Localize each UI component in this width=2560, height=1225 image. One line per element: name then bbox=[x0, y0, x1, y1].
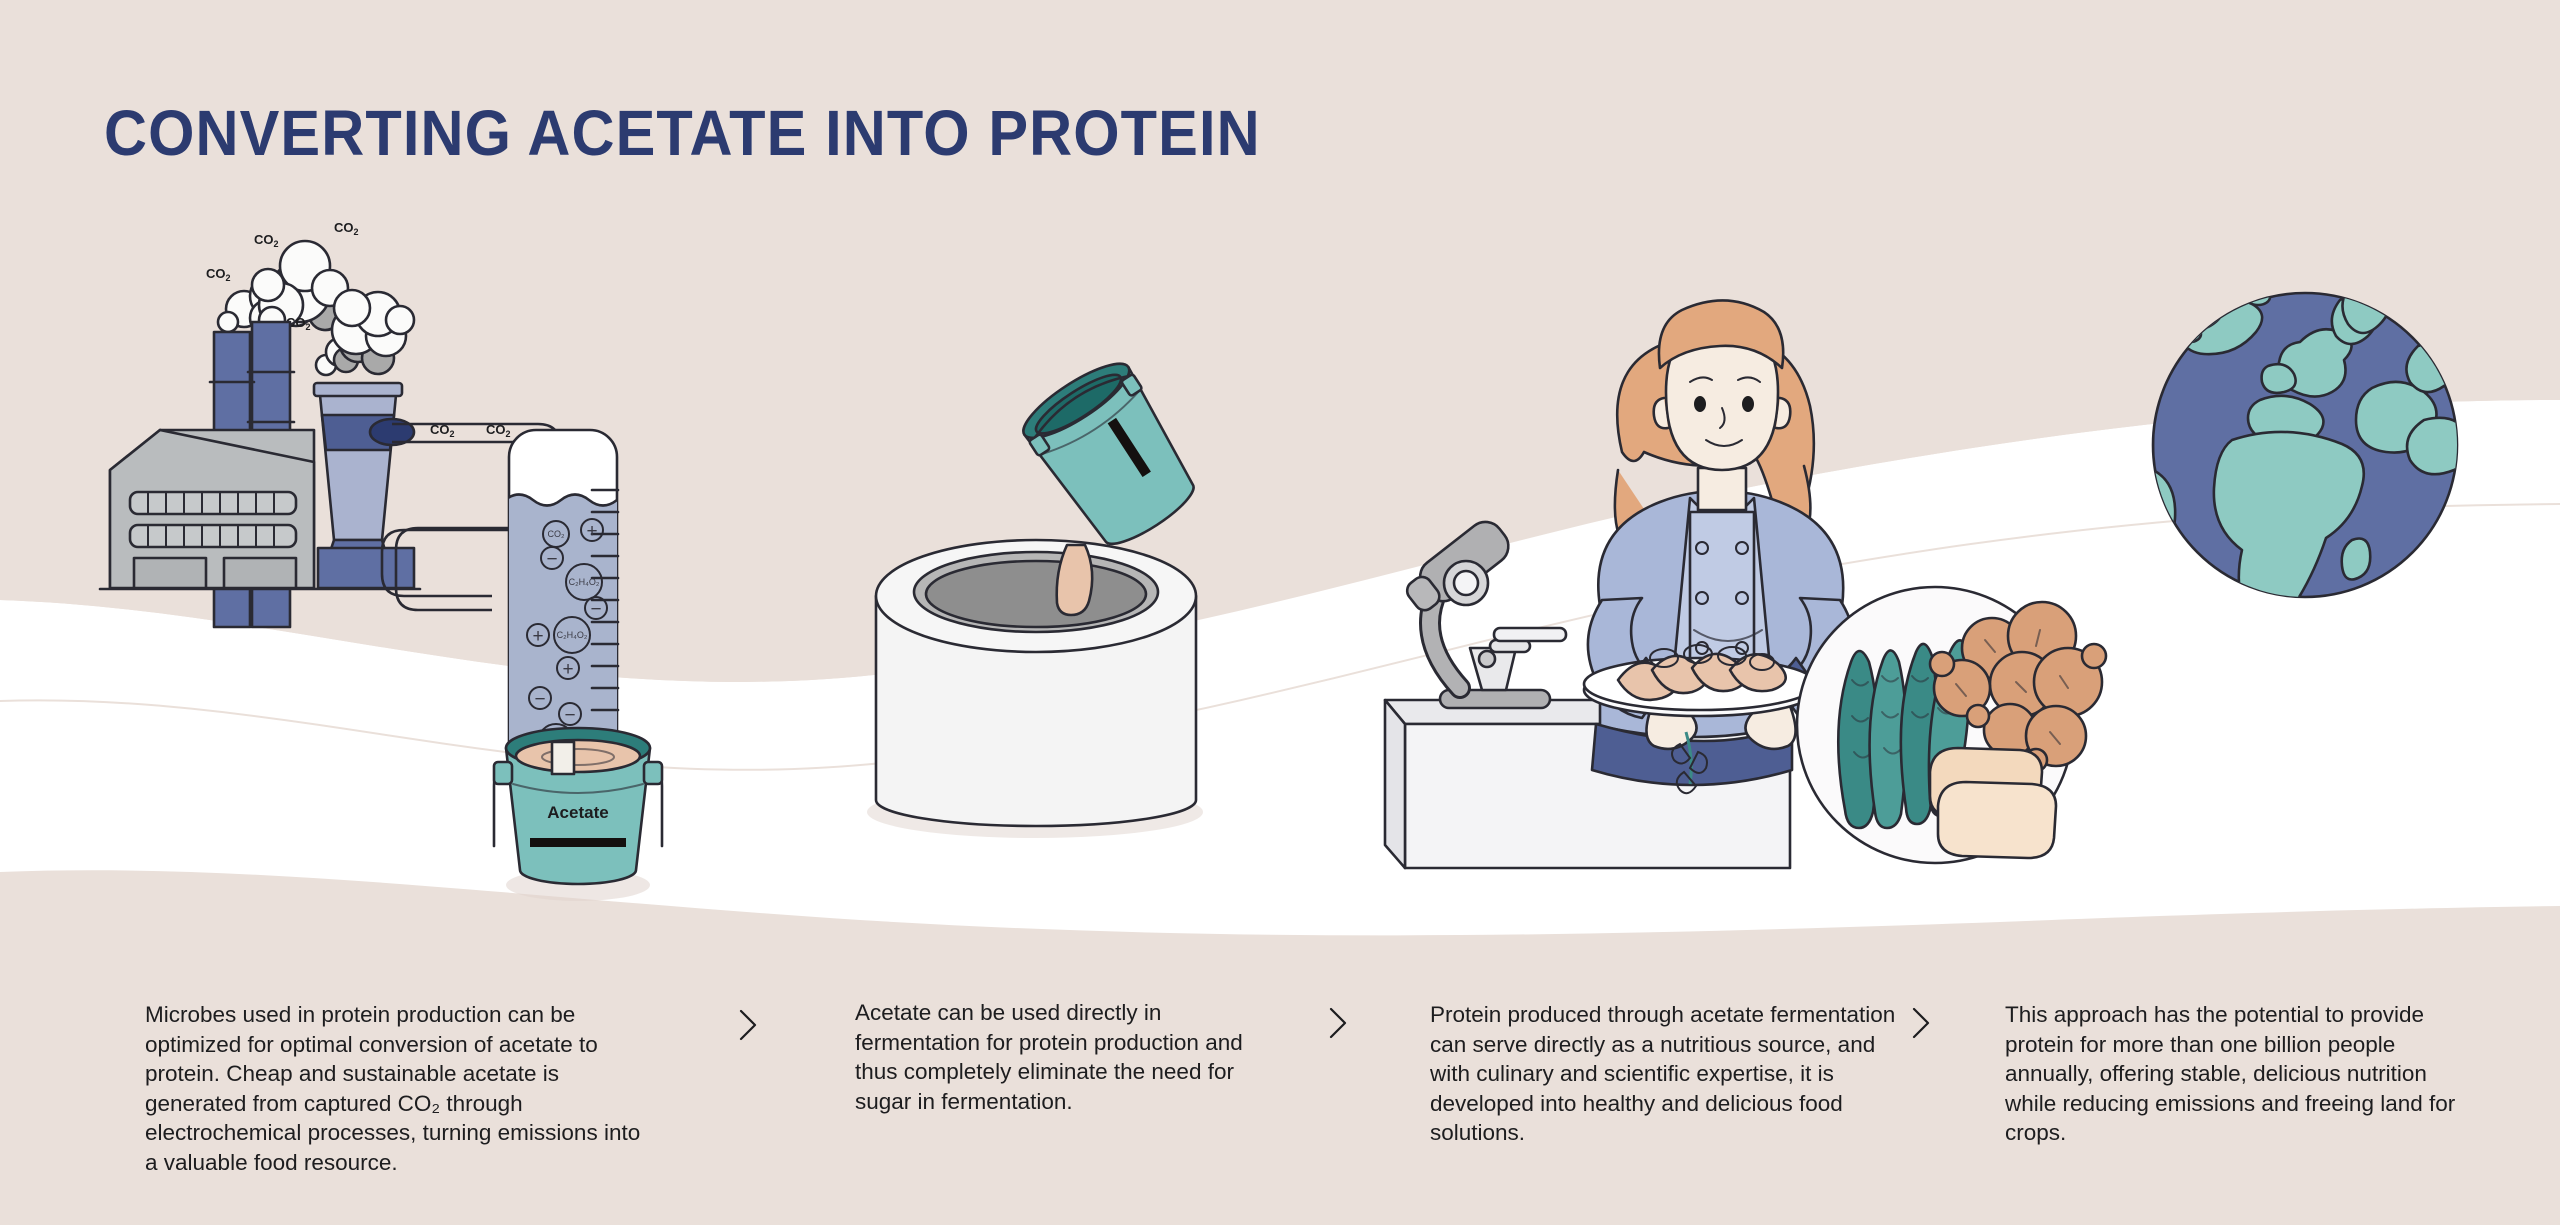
chevron-right-icon bbox=[1325, 1003, 1351, 1043]
ion-plus: + bbox=[586, 521, 597, 542]
co2-label: CO2 bbox=[254, 232, 279, 249]
food-plate-vignette bbox=[1797, 587, 2106, 863]
ion-minus: − bbox=[590, 599, 601, 620]
chef-neck bbox=[1698, 468, 1746, 510]
molecule-label-co2: CO₂ bbox=[548, 529, 566, 539]
factory-building bbox=[110, 430, 314, 588]
globe-group bbox=[2133, 279, 2472, 676]
window-strip bbox=[130, 525, 296, 547]
bucket-contents bbox=[516, 740, 640, 772]
chevron-right-icon bbox=[1908, 1003, 1934, 1043]
microscope-stage bbox=[1494, 628, 1566, 641]
co2-label: CO2 bbox=[206, 266, 231, 283]
pour-stream bbox=[1057, 545, 1092, 615]
factory-group: CO2 CO2 CO2 CO2 bbox=[100, 220, 662, 901]
page-title: CONVERTING ACETATE INTO PROTEIN bbox=[104, 96, 1261, 170]
factory-door bbox=[224, 558, 296, 588]
fermentation-group bbox=[867, 352, 1209, 838]
bucket-label: Acetate bbox=[547, 803, 608, 822]
step-caption-2: Acetate can be used directly in fermenta… bbox=[855, 998, 1255, 1116]
window-strip bbox=[130, 492, 296, 514]
ion-plus: + bbox=[532, 626, 543, 647]
chef-eye bbox=[1742, 396, 1754, 412]
factory-door bbox=[134, 558, 206, 588]
spout-stream bbox=[552, 742, 574, 774]
chevron-right-icon bbox=[735, 1005, 761, 1045]
step-caption-4: This approach has the potential to provi… bbox=[2005, 1000, 2460, 1148]
chef-scene-group bbox=[1385, 300, 2106, 868]
stack-puff-1 bbox=[218, 312, 238, 332]
ion-minus: − bbox=[546, 549, 557, 570]
molecule-label-acetate: C₂H₄O₂ bbox=[569, 577, 600, 587]
tank-opening bbox=[926, 561, 1146, 627]
co2-label: CO2 bbox=[334, 220, 359, 237]
step-caption-3: Protein produced through acetate ferment… bbox=[1430, 1000, 1915, 1148]
molecule-label-acetate: C₂H₄O₂ bbox=[557, 630, 588, 640]
pouring-bucket bbox=[1015, 352, 1209, 559]
bucket-label-bar bbox=[530, 838, 626, 847]
microscope bbox=[1399, 515, 1566, 708]
bread-group bbox=[1930, 748, 2056, 858]
ion-plus: + bbox=[562, 659, 573, 680]
step-caption-1: Microbes used in protein production can … bbox=[145, 1000, 653, 1177]
chef-eye bbox=[1694, 396, 1706, 412]
infographic-canvas: .ol{fill:none;stroke:#2a2a33;stroke-widt… bbox=[0, 0, 2560, 1225]
acetate-bucket: Acetate bbox=[494, 728, 662, 901]
ion-minus: − bbox=[564, 705, 575, 726]
microscope-focus-knob bbox=[1479, 651, 1495, 667]
ion-minus: − bbox=[534, 689, 545, 710]
